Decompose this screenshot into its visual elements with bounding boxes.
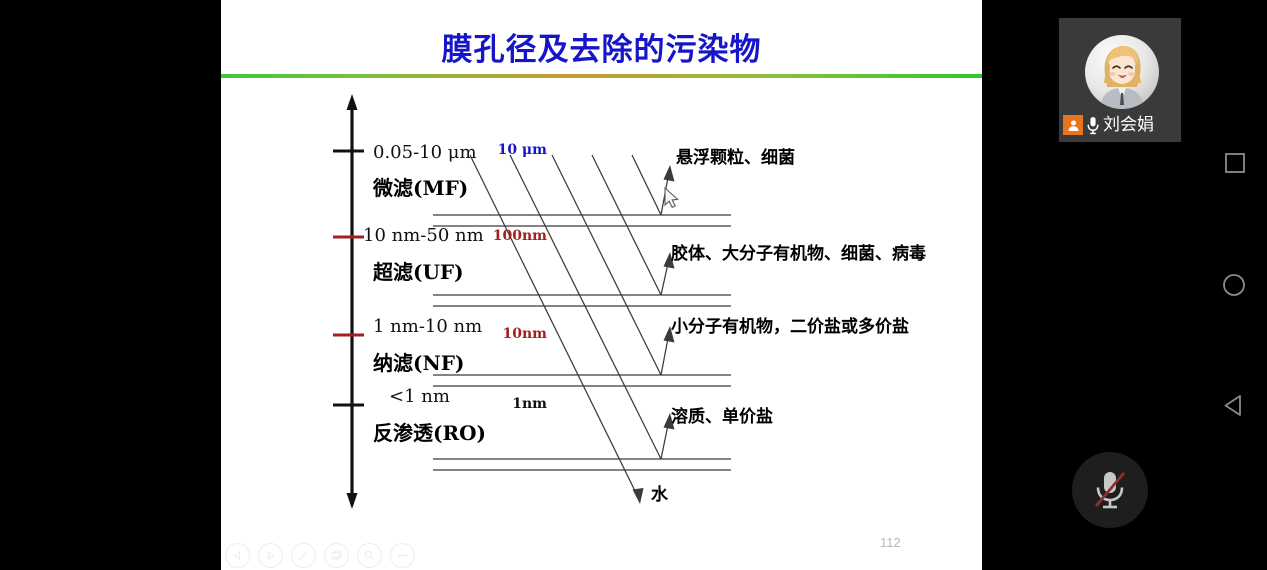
- ellipsis-icon: [397, 553, 409, 558]
- process-nf: 纳滤(NF): [373, 347, 464, 376]
- person-icon: [1067, 119, 1080, 132]
- slide-canvas[interactable]: 膜孔径及去除的污染物: [221, 0, 982, 570]
- mute-toggle-button[interactable]: [1072, 452, 1148, 528]
- nav-recents-button[interactable]: [1223, 151, 1247, 175]
- removed-mf: 悬浮颗粒、细菌: [676, 143, 795, 168]
- nav-home-button[interactable]: [1221, 272, 1247, 298]
- microphone-muted-icon: [1091, 468, 1129, 512]
- membrane-filtration-diagram: 10 μm 100nm 10nm 1nm 0.05-10 μm 微滤(MF) 悬…: [221, 76, 982, 536]
- zoom-button[interactable]: [357, 543, 382, 568]
- size-range-uf: 10 nm-50 nm: [363, 225, 484, 246]
- search-icon: [364, 550, 375, 561]
- next-slide-button[interactable]: [258, 543, 283, 568]
- avatar-illustration: [1085, 35, 1159, 109]
- removed-uf: 胶体、大分子有机物、细菌、病毒: [671, 239, 926, 264]
- pen-icon: [298, 550, 309, 561]
- page-title: 膜孔径及去除的污染物: [221, 24, 982, 69]
- circle-icon: [1224, 275, 1244, 295]
- size-range-mf: 0.05-10 μm: [373, 142, 477, 163]
- triangle-back-icon: [1226, 396, 1241, 415]
- slide-page-number: 112: [880, 535, 901, 550]
- removed-ro: 溶质、单价盐: [671, 402, 773, 427]
- permeate-label: 水: [651, 480, 668, 505]
- triangle-left-icon: [233, 551, 242, 560]
- grid-icon: [331, 550, 342, 561]
- diagram-vectors: [221, 76, 982, 536]
- slide-thumbnails-button[interactable]: [324, 543, 349, 568]
- screen: 膜孔径及去除的污染物: [0, 0, 1267, 570]
- avatar: [1085, 35, 1159, 109]
- triangle-right-icon: [266, 551, 275, 560]
- participant-video-tile[interactable]: 刘会娟: [1059, 18, 1181, 142]
- process-uf: 超滤(UF): [373, 256, 464, 285]
- square-icon: [1226, 154, 1244, 172]
- participant-name: 刘会娟: [1103, 117, 1154, 134]
- axis-tick-label-1nm: 1nm: [479, 396, 547, 412]
- previous-slide-button[interactable]: [225, 543, 250, 568]
- nav-back-button[interactable]: [1222, 393, 1247, 418]
- axis-tick-label-10nm: 10nm: [479, 326, 547, 342]
- size-range-nf: 1 nm-10 nm: [373, 316, 482, 337]
- process-ro: 反渗透(RO): [373, 417, 486, 446]
- mouse-cursor: [665, 188, 678, 207]
- axis-tick-label-10um: 10 μm: [487, 142, 547, 158]
- size-range-ro: <1 nm: [389, 386, 450, 407]
- participant-name-row: 刘会娟: [1059, 112, 1181, 138]
- axis-tick-label-100nm: 100nm: [479, 228, 547, 244]
- more-options-button[interactable]: [390, 543, 415, 568]
- person-badge: [1063, 115, 1083, 135]
- microphone-icon: [1086, 116, 1100, 135]
- annotate-button[interactable]: [291, 543, 316, 568]
- removed-nf: 小分子有机物，二价盐或多价盐: [671, 312, 909, 337]
- process-mf: 微滤(MF): [373, 172, 468, 201]
- slide-toolbar: [225, 543, 415, 568]
